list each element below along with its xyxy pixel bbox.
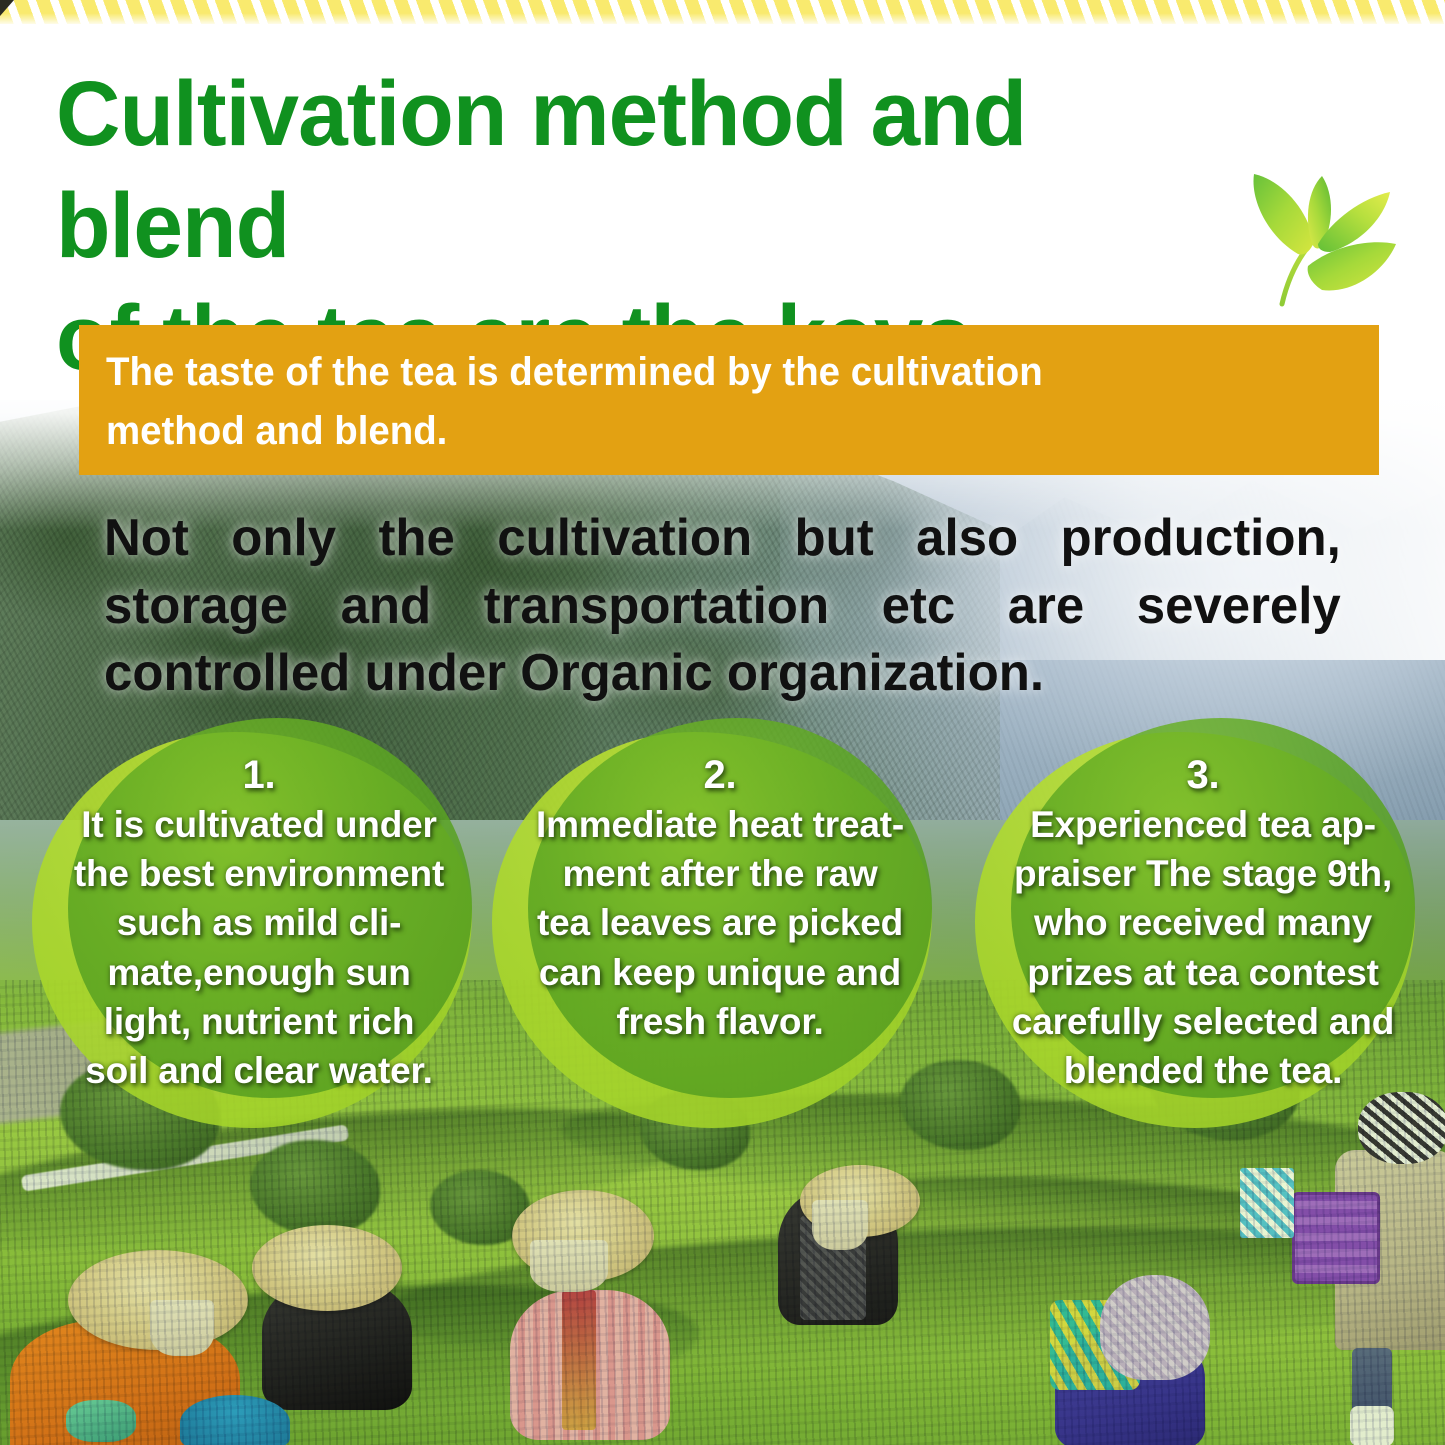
body-paragraph-line2: storage and transportation etc are sever…	[104, 573, 1341, 641]
body-paragraph-line1: Not only the cultivation but also produc…	[104, 505, 1341, 573]
poster-root: Cultivation method and blend of the tea …	[0, 0, 1445, 1445]
feature-blob-3-line4: prizes at tea contest	[981, 948, 1425, 997]
feature-blob-1: 1. It is cultivated under the best envir…	[32, 718, 502, 1133]
highlight-banner-line1: The taste of the tea is determined by th…	[106, 343, 1303, 402]
body-paragraph: Not only the cultivation but also produc…	[104, 505, 1341, 708]
feature-blob-2: 2. Immediate heat treat- ment after the …	[492, 718, 962, 1133]
feature-blob-2-text: 2. Immediate heat treat- ment after the …	[502, 752, 938, 1046]
feature-blob-1-number: 1.	[44, 752, 474, 798]
tea-leaf-icon	[1238, 162, 1410, 314]
feature-blob-3-line2: praiser The stage 9th,	[981, 849, 1425, 898]
feature-blob-1-line6: soil and clear water.	[44, 1046, 474, 1095]
feature-blob-2-number: 2.	[502, 752, 938, 798]
feature-blob-1-text: 1. It is cultivated under the best envir…	[44, 752, 474, 1095]
feature-blob-3: 3. Experienced tea ap- praiser The stage…	[975, 718, 1445, 1133]
feature-blob-1-line5: light, nutrient rich	[44, 997, 474, 1046]
feature-blob-3-text: 3. Experienced tea ap- praiser The stage…	[981, 752, 1425, 1095]
body-paragraph-line3: controlled under Organic organization.	[104, 640, 1341, 708]
highlight-banner: The taste of the tea is determined by th…	[79, 325, 1379, 475]
top-stripe-band	[0, 0, 1445, 24]
feature-blob-1-line1: It is cultivated under	[44, 800, 474, 849]
feature-blob-3-line1: Experienced tea ap-	[981, 800, 1425, 849]
feature-blob-1-line2: the best environment	[44, 849, 474, 898]
feature-blob-1-line3: such as mild cli-	[44, 898, 474, 947]
feature-blob-3-line6: blended the tea.	[981, 1046, 1425, 1095]
feature-blob-1-line4: mate,enough sun	[44, 948, 474, 997]
feature-blob-2-line4: can keep unique and	[502, 948, 938, 997]
highlight-banner-line2: method and blend.	[106, 402, 1303, 461]
feature-blob-3-line5: carefully selected and	[981, 997, 1425, 1046]
feature-blob-2-line5: fresh flavor.	[502, 997, 938, 1046]
feature-blob-3-number: 3.	[981, 752, 1425, 798]
feature-blob-3-line3: who received many	[981, 898, 1425, 947]
feature-blob-2-line3: tea leaves are picked	[502, 898, 938, 947]
page-title-line1: Cultivation method and blend	[56, 63, 1026, 277]
feature-blob-2-line1: Immediate heat treat-	[502, 800, 938, 849]
feature-blob-2-line2: ment after the raw	[502, 849, 938, 898]
